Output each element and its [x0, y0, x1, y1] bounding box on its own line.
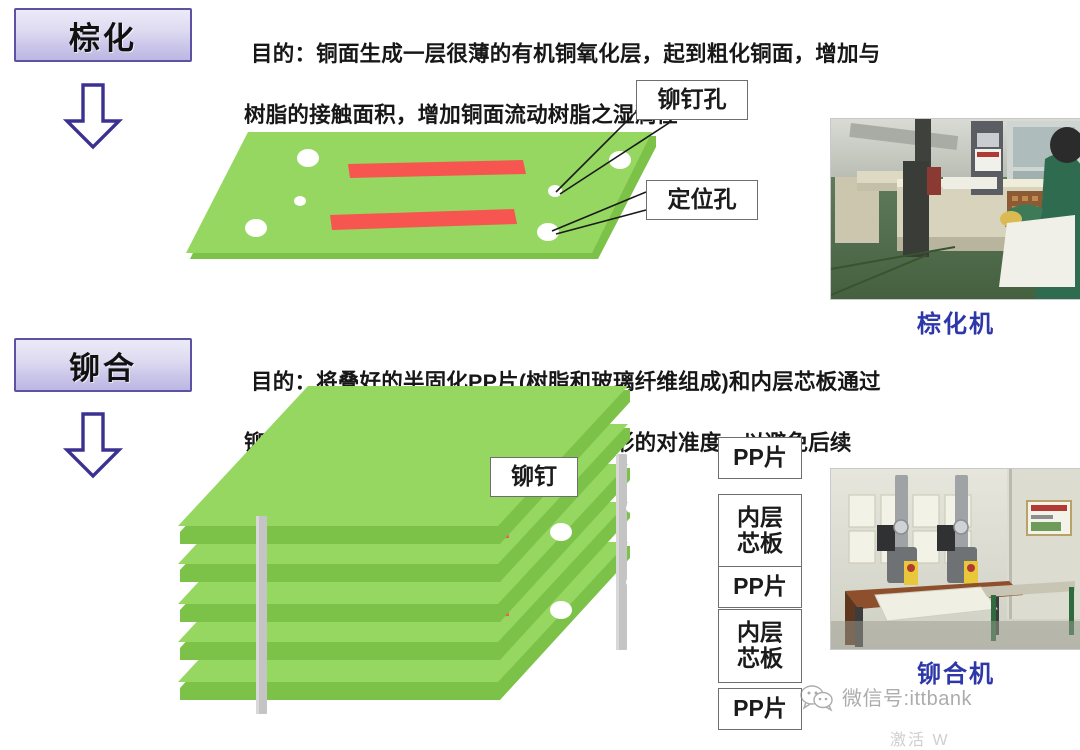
photo-block-browning-machine: 棕化机: [830, 118, 1080, 339]
slide-stage: 棕化 目的：铜面生成一层很薄的有机铜氧化层，起到粗化铜面，增加与 树脂的接触面积…: [0, 0, 1080, 744]
section-browning: 棕化 目的：铜面生成一层很薄的有机铜氧化层，起到粗化铜面，增加与 树脂的接触面积…: [0, 0, 1080, 330]
photo-browning-machine: [830, 118, 1080, 300]
callout-rivet-hole: 铆钉孔: [636, 80, 748, 120]
bottom-faint-text: 激活 W: [890, 726, 950, 750]
callout-inner-core-2-label-line2: 芯板: [737, 646, 783, 672]
callout-locating-hole: 定位孔: [646, 180, 758, 220]
stage-button-riveting-label: 铆合: [69, 343, 137, 388]
stage-button-browning[interactable]: 棕化: [14, 8, 192, 62]
layer-stack-illustration: [178, 440, 698, 740]
stage-button-browning-label: 棕化: [69, 13, 137, 58]
watermark: 微信号:ittbank: [800, 682, 972, 711]
callout-pp-sheet-1: PP片: [718, 437, 802, 479]
callout-pp-sheet-2: PP片: [718, 566, 802, 608]
callout-rivet-label: 铆钉: [511, 464, 557, 490]
callout-pp-sheet-2-label: PP片: [733, 574, 787, 600]
callout-inner-core-1: 内层 芯板: [718, 494, 802, 568]
callout-rivet: 铆钉: [490, 457, 578, 497]
photo-block-riveting-machine: 铆合机: [830, 468, 1080, 689]
photo-riveting-machine: [830, 468, 1080, 650]
pcb-board-illustration: [178, 120, 658, 270]
callout-rivet-hole-label: 铆钉孔: [658, 87, 727, 113]
purpose-line-1: 目的：铜面生成一层很薄的有机铜氧化层，起到粗化铜面，增加与: [251, 42, 880, 66]
callout-inner-core-1-label-line2: 芯板: [737, 531, 783, 557]
wechat-icon: [800, 684, 834, 710]
callout-inner-core-1-label-line1: 内层: [737, 505, 783, 531]
watermark-text: 微信号:ittbank: [842, 682, 972, 711]
callout-inner-core-2: 内层 芯板: [718, 609, 802, 683]
callout-pp-sheet-1-label: PP片: [733, 445, 787, 471]
callout-locating-hole-label: 定位孔: [668, 187, 737, 213]
flow-arrow-down-1: [62, 83, 124, 149]
callout-inner-core-2-label-line1: 内层: [737, 620, 783, 646]
callout-pp-sheet-3: PP片: [718, 688, 802, 730]
callout-pp-sheet-3-label: PP片: [733, 696, 787, 722]
stage-button-riveting[interactable]: 铆合: [14, 338, 192, 392]
flow-arrow-down-2: [62, 412, 124, 478]
